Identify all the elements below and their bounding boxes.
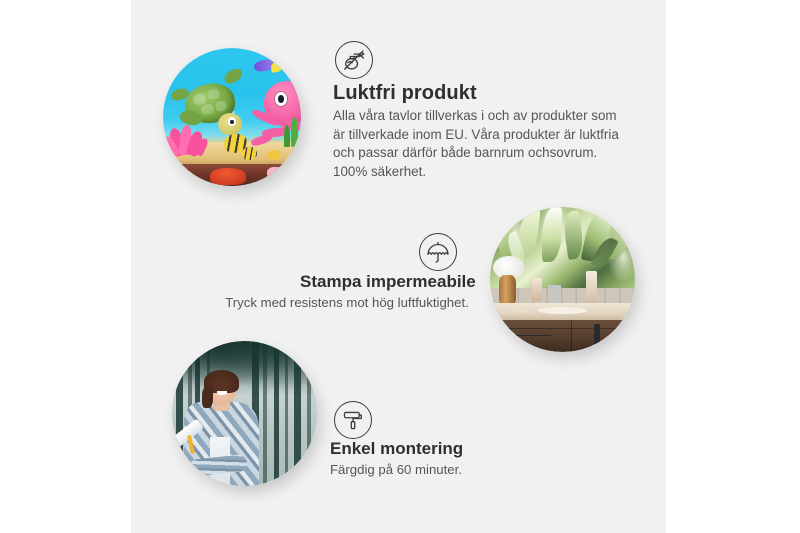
paint-roller-icon — [334, 401, 372, 439]
photo-bathroom-tropical-wallpaper — [490, 207, 635, 352]
promo-infographic: Luktfri produkt Alla våra tavlor tillver… — [0, 0, 800, 533]
photo-woman-with-paint-roller — [172, 341, 317, 486]
no-odor-icon — [335, 41, 373, 79]
feature-body-waterproof-print: Tryck med resistens mot hög luftfuktighe… — [222, 295, 472, 310]
photo-underwater-cartoon — [163, 48, 301, 186]
feature-body-odor-free: Alla våra tavlor tillverkas i och av pro… — [333, 107, 625, 181]
feature-heading-waterproof-print: Stampa impermeabile — [300, 272, 476, 292]
feature-heading-easy-mounting: Enkel montering — [330, 439, 463, 459]
feature-body-easy-mounting: Färgdig på 60 minuter. — [330, 462, 580, 477]
feature-heading-odor-free: Luktfri produkt — [333, 82, 477, 105]
umbrella-icon — [419, 233, 457, 271]
